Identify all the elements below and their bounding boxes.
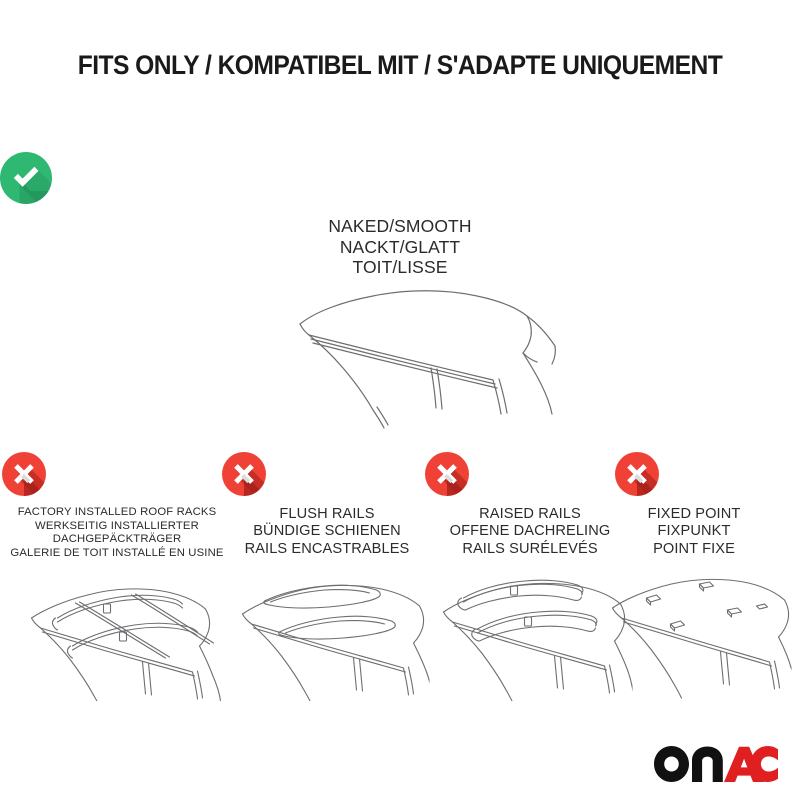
compatible-label: NAKED/SMOOTH NACKT/GLATT TOIT/LISSE (0, 216, 800, 278)
label-line-2: FIXPUNKT (615, 523, 773, 540)
flush-rails-illustration (225, 556, 430, 701)
label-line-2: WERKSEITIG INSTALLIERTER (2, 520, 232, 534)
compatible-label-line-1: NAKED/SMOOTH (0, 216, 800, 237)
incompatible-item-raised-rails: RAISED RAILS OFFENE DACHRELING RAILS SUR… (425, 452, 635, 558)
smooth-roof-illustration (255, 276, 585, 436)
cross-circle-icon (222, 452, 432, 496)
incompatible-label-raised-rails: RAISED RAILS OFFENE DACHRELING RAILS SUR… (425, 506, 635, 558)
label-line-3: DACHGEPÄCKTRÄGER (2, 533, 232, 547)
page-title: FITS ONLY / KOMPATIBEL MIT / S'ADAPTE UN… (28, 50, 772, 81)
incompatible-item-fixed-point: FIXED POINT FIXPUNKT POINT FIXE (615, 452, 773, 558)
omac-logo (654, 746, 778, 782)
fixed-point-illustration (597, 556, 792, 701)
check-circle-icon (0, 152, 800, 204)
incompatible-label-flush-rails: FLUSH RAILS BÜNDIGE SCHIENEN RAILS ENCAS… (222, 506, 432, 558)
label-line-1: FACTORY INSTALLED ROOF RACKS (2, 506, 232, 520)
label-line-1: RAISED RAILS (425, 506, 635, 523)
label-line-1: FIXED POINT (615, 506, 773, 523)
incompatible-item-factory-installed-roof-racks: FACTORY INSTALLED ROOF RACKS WERKSEITIG … (2, 452, 232, 560)
compatible-section: NAKED/SMOOTH NACKT/GLATT TOIT/LISSE (0, 152, 800, 278)
label-line-2: BÜNDIGE SCHIENEN (222, 523, 432, 540)
compatible-label-line-2: NACKT/GLATT (0, 237, 800, 258)
cross-circle-icon (615, 452, 773, 496)
cross-circle-icon (2, 452, 232, 496)
incompatible-label-factory-installed-roof-racks: FACTORY INSTALLED ROOF RACKS WERKSEITIG … (2, 506, 232, 560)
compatible-label-line-3: TOIT/LISSE (0, 257, 800, 278)
cross-circle-icon (425, 452, 635, 496)
incompatible-label-fixed-point: FIXED POINT FIXPUNKT POINT FIXE (615, 506, 773, 558)
roof-rack-illustration (10, 556, 225, 701)
label-line-1: FLUSH RAILS (222, 506, 432, 523)
label-line-2: OFFENE DACHRELING (425, 523, 635, 540)
incompatible-item-flush-rails: FLUSH RAILS BÜNDIGE SCHIENEN RAILS ENCAS… (222, 452, 432, 558)
